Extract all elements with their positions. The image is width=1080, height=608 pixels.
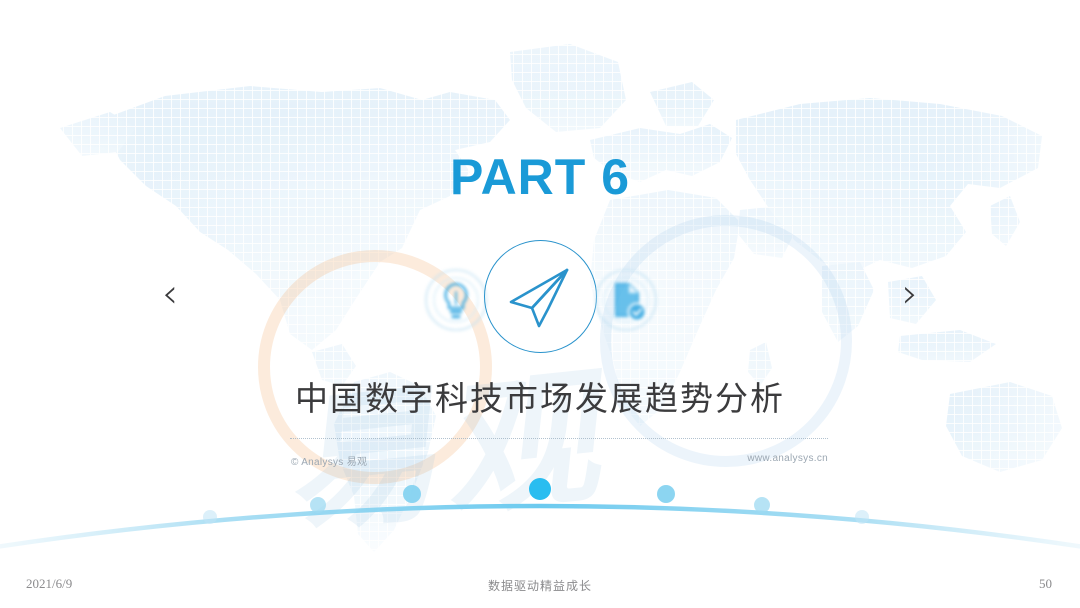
- slide-title: 中国数字科技市场发展趋势分析: [0, 372, 1080, 420]
- progress-dot[interactable]: [754, 497, 770, 513]
- progress-arc-line: [0, 455, 1080, 565]
- progress-dot[interactable]: [310, 497, 326, 513]
- slide-bottom-bar: 2021/6/9 数据驱动精益成长 50: [0, 564, 1080, 608]
- progress-dot[interactable]: [855, 510, 869, 524]
- progress-dot[interactable]: [657, 485, 675, 503]
- progress-dot[interactable]: [403, 485, 421, 503]
- progress-dot[interactable]: [203, 510, 217, 524]
- presentation-slide: 易观 ‹ › PART 6: [0, 0, 1080, 608]
- slide-tagline: 数据驱动精益成长: [0, 577, 1080, 594]
- website-url[interactable]: www.analysys.cn: [747, 453, 828, 464]
- progress-dot-active[interactable]: [529, 478, 551, 500]
- lightbulb-icon: [420, 264, 492, 336]
- icon-cluster: [0, 240, 1080, 360]
- footer-divider: [290, 438, 828, 439]
- slide-page-number: 50: [1039, 576, 1052, 592]
- paper-plane-icon: [484, 240, 597, 353]
- document-check-icon: [590, 264, 662, 336]
- part-label: PART 6: [0, 148, 1080, 206]
- progress-arc: [0, 455, 1080, 565]
- copyright-text: © Analysys 易观: [291, 453, 367, 468]
